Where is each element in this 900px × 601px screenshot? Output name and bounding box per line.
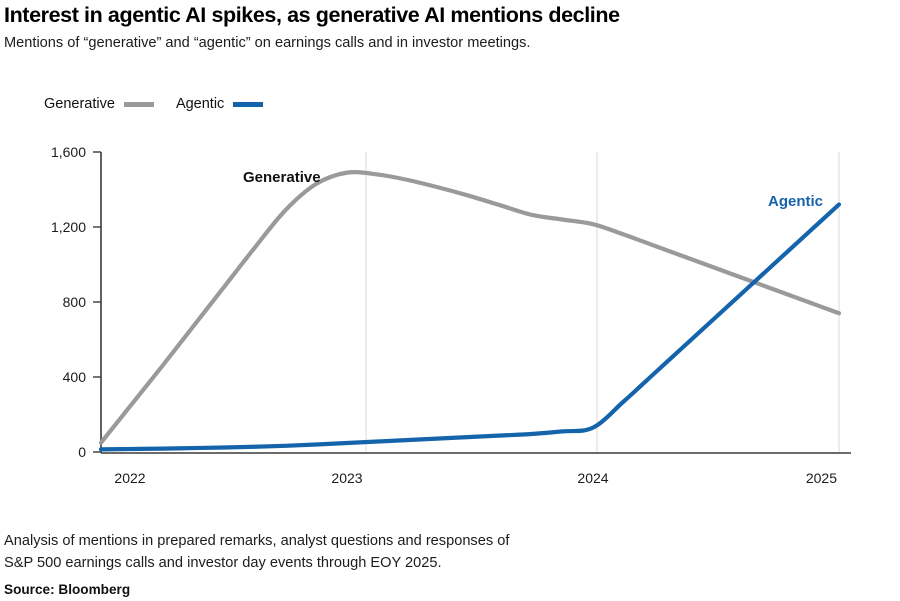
footnote-line-1: Analysis of mentions in prepared remarks…: [4, 530, 724, 552]
line-chart-svg: 04008001,2001,600 2022202320242025 Gener…: [0, 0, 900, 601]
series-annotation-generative: Generative: [243, 169, 321, 186]
chart-source: Source: Bloomberg: [4, 582, 130, 597]
y-tick-label: 800: [63, 294, 87, 310]
footnote-line-2: S&P 500 earnings calls and investor day …: [4, 552, 724, 574]
series-line-agentic: [101, 205, 839, 450]
y-tick-label: 400: [63, 369, 87, 385]
x-tick-label: 2025: [806, 470, 837, 486]
x-axis: 2022202320242025: [101, 453, 851, 486]
x-tick-label: 2023: [331, 470, 362, 486]
x-tick-label: 2022: [114, 470, 145, 486]
y-axis-ticks: [93, 152, 101, 452]
y-tick-label: 0: [78, 444, 86, 460]
y-axis: 04008001,2001,600: [51, 144, 101, 460]
chart-footnote: Analysis of mentions in prepared remarks…: [4, 530, 724, 574]
y-tick-label: 1,600: [51, 144, 86, 160]
chart-page: Interest in agentic AI spikes, as genera…: [0, 0, 900, 601]
y-tick-label: 1,200: [51, 219, 86, 235]
y-axis-tick-labels: 04008001,2001,600: [51, 144, 86, 460]
x-axis-tick-labels: 2022202320242025: [114, 470, 837, 486]
x-tick-label: 2024: [577, 470, 608, 486]
chart-area: 04008001,2001,600 2022202320242025 Gener…: [0, 0, 900, 601]
series-annotation-agentic: Agentic: [768, 193, 823, 210]
